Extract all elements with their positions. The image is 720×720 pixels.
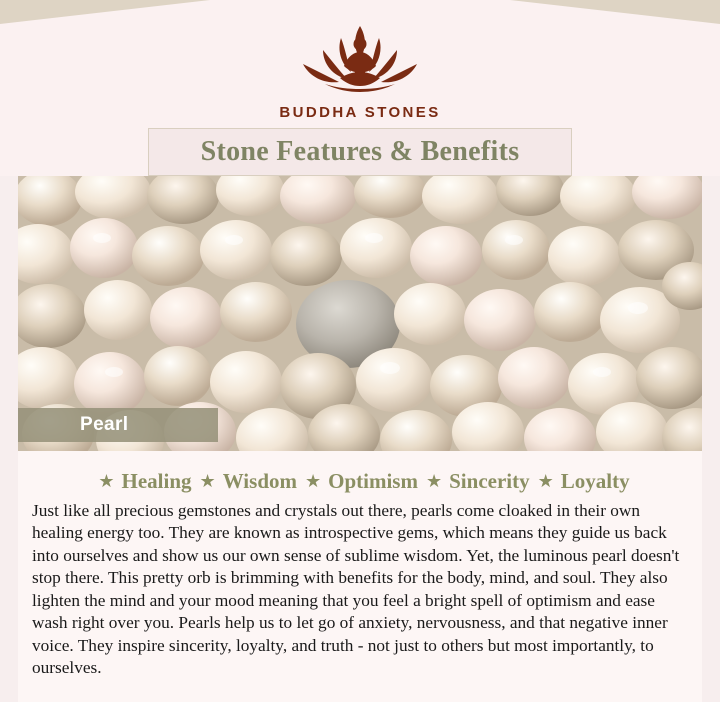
- keyword-sincerity: Sincerity: [449, 469, 529, 494]
- keyword-healing: Healing: [122, 469, 192, 494]
- corner-wedge-right: [510, 0, 720, 24]
- page-title: Stone Features & Benefits: [201, 136, 520, 168]
- lotus-meditation-icon: [285, 22, 435, 100]
- brand-name: BUDDHA STONES: [0, 104, 720, 121]
- star-icon: ★: [426, 473, 442, 491]
- section-title-bar: Stone Features & Benefits: [148, 128, 572, 176]
- content-panel: ★ Healing ★ Wisdom ★ Optimism ★ Sincerit…: [18, 451, 702, 702]
- star-icon: ★: [305, 473, 321, 491]
- keyword-loyalty: Loyalty: [561, 469, 630, 494]
- star-icon: ★: [538, 473, 554, 491]
- keyword-optimism: Optimism: [328, 469, 418, 494]
- star-icon: ★: [200, 473, 216, 491]
- image-caption: Pearl: [18, 408, 218, 442]
- body-paragraph: Just like all precious gemstones and cry…: [18, 494, 702, 680]
- keyword-wisdom: Wisdom: [223, 469, 297, 494]
- bottom-strip: [0, 702, 720, 720]
- corner-wedge-left: [0, 0, 210, 24]
- star-icon: ★: [98, 473, 114, 491]
- page-root: BUDDHA STONES Stone Features & Benefits: [0, 0, 720, 720]
- brand-logo: BUDDHA STONES: [0, 22, 720, 121]
- keyword-list: ★ Healing ★ Wisdom ★ Optimism ★ Sincerit…: [18, 451, 702, 494]
- image-caption-text: Pearl: [80, 414, 128, 436]
